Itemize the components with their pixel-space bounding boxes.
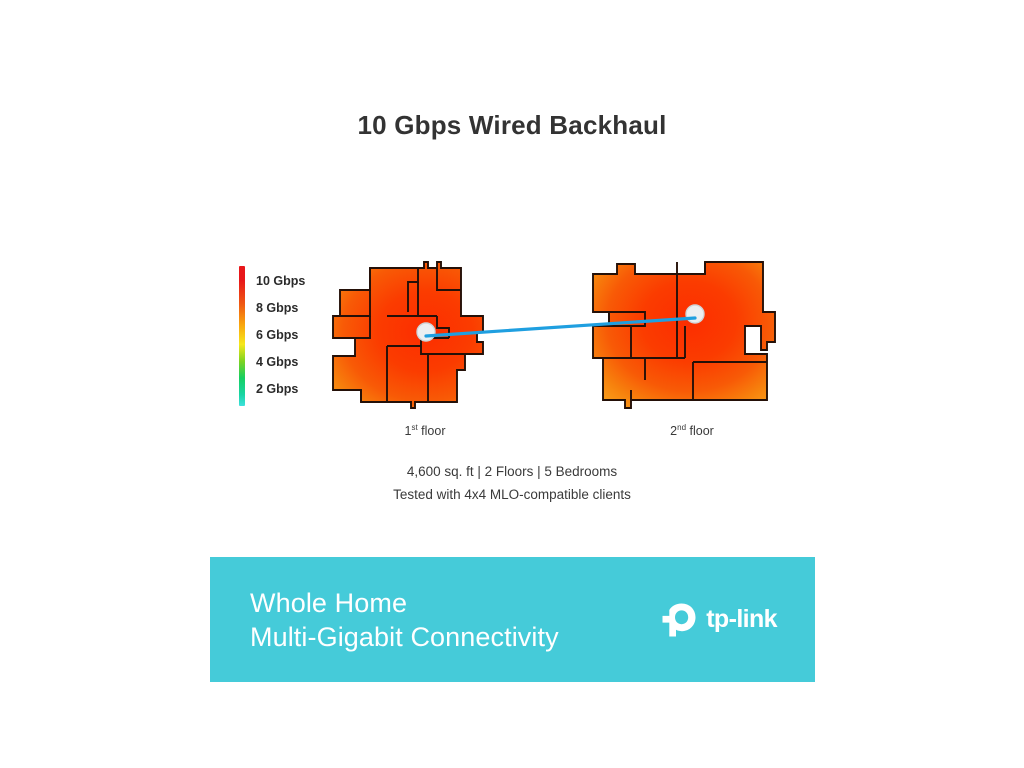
tp-link-wordmark: tp-link: [706, 605, 777, 634]
test-note-line-2: Tested with 4x4 MLO-compatible clients: [0, 483, 1024, 506]
floor-2-ordinal-suffix: nd: [677, 423, 686, 432]
legend-gradient-bar: [239, 266, 245, 406]
floor-1-caption-rest: floor: [418, 424, 446, 438]
legend-label-2gbps: 2 Gbps: [256, 382, 298, 396]
bottom-banner: Whole Home Multi-Gigabit Connectivity tp…: [210, 557, 815, 682]
tp-link-logo: tp-link: [659, 600, 777, 640]
banner-headline-line-2: Multi-Gigabit Connectivity: [250, 620, 559, 654]
signal-strength-legend: 10 Gbps 8 Gbps 6 Gbps 4 Gbps 2 Gbps: [236, 264, 326, 409]
page-title: 10 Gbps Wired Backhaul: [0, 110, 1024, 141]
banner-headline: Whole Home Multi-Gigabit Connectivity: [250, 586, 559, 654]
floor-caption-2nd-floor: 2nd floor: [592, 423, 792, 438]
legend-label-4gbps: 4 Gbps: [256, 355, 298, 369]
floor-2-caption-rest: floor: [686, 424, 714, 438]
tp-link-p-logo-icon: [659, 600, 699, 640]
floor-plan-2nd-floor: [585, 250, 785, 420]
test-note-line-1: 4,600 sq. ft | 2 Floors | 5 Bedrooms: [0, 460, 1024, 483]
floor-caption-1st-floor: 1st floor: [325, 423, 525, 438]
floor-plan-1st-floor: [325, 250, 525, 420]
floor-1-mesh-node: [417, 323, 435, 341]
floor-2-mesh-node: [686, 305, 704, 323]
legend-label-10gbps: 10 Gbps: [256, 274, 305, 288]
legend-label-6gbps: 6 Gbps: [256, 328, 298, 342]
test-notes: 4,600 sq. ft | 2 Floors | 5 Bedrooms Tes…: [0, 460, 1024, 506]
legend-label-8gbps: 8 Gbps: [256, 301, 298, 315]
banner-headline-line-1: Whole Home: [250, 586, 559, 620]
